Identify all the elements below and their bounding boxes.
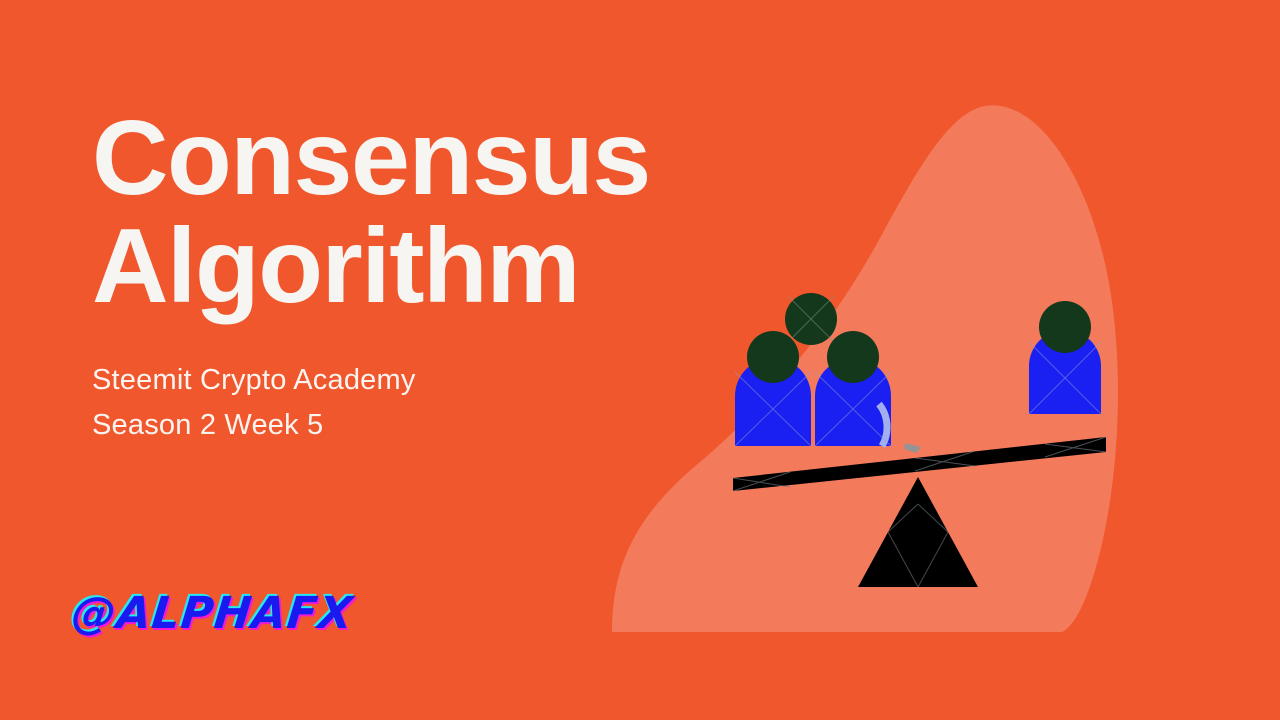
subtitle-line-1: Steemit Crypto Academy bbox=[92, 358, 652, 403]
headline-block: Consensus Algorithm bbox=[92, 104, 732, 320]
subtitle-block: Steemit Crypto Academy Season 2 Week 5 bbox=[92, 358, 652, 448]
subtitle-line-2: Season 2 Week 5 bbox=[92, 403, 652, 448]
author-handle: @ALPHAFX bbox=[69, 588, 356, 639]
title-line-2: Algorithm bbox=[92, 212, 732, 320]
poster-canvas: Consensus Algorithm Steemit Crypto Acade… bbox=[0, 0, 1280, 720]
page-title: Consensus Algorithm bbox=[92, 104, 732, 320]
title-line-1: Consensus bbox=[92, 104, 732, 212]
